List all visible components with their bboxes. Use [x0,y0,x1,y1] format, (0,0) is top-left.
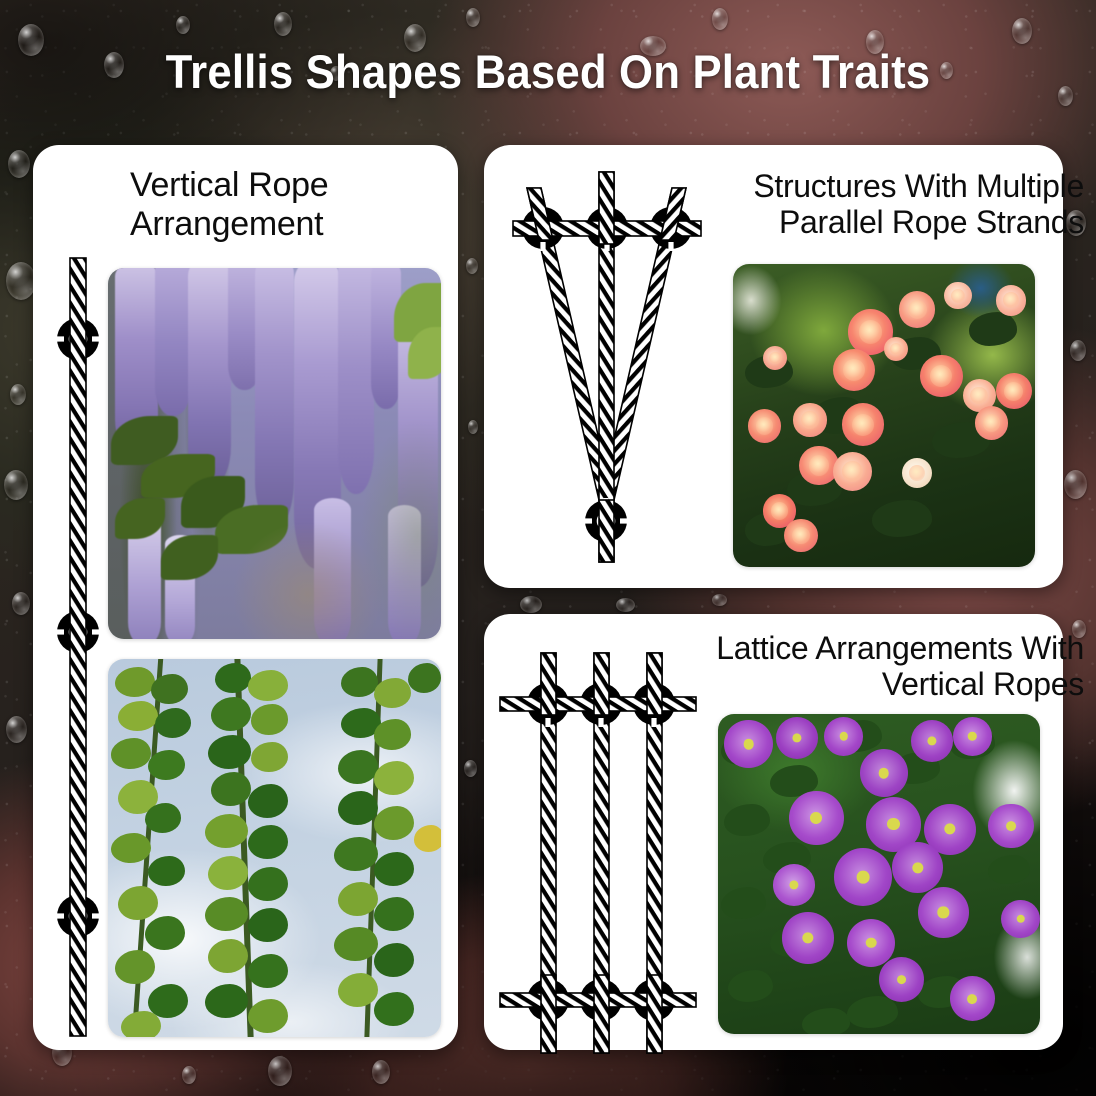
clematis-bloom [776,717,818,759]
card-heading-vertical: Vertical Rope Arrangement [130,166,430,244]
water-droplet [1058,86,1073,106]
clematis-bloom [782,912,834,963]
water-droplet [616,598,635,612]
rose-bloom [996,285,1026,315]
water-droplet [1064,470,1087,499]
water-droplet [274,12,292,36]
water-droplet [468,420,478,434]
clematis-bloom [879,957,924,1002]
water-droplet [6,262,36,300]
rose-bloom [793,403,826,436]
climbing-roses-photo-image [733,264,1035,567]
clematis-bloom [834,848,892,906]
water-droplet [464,760,477,777]
clematis-bloom [789,791,844,845]
water-droplet [466,258,478,274]
clematis-bloom [773,864,815,906]
rose-bloom [899,291,935,327]
water-droplet [712,8,728,30]
rose-bloom [833,452,872,491]
card-heading-lattice: Lattice Arrangements With Vertical Ropes [692,630,1084,703]
rose-bloom [884,337,908,361]
clematis-bloom [918,887,970,938]
card-heading-multi: Structures With Multiple Parallel Rope S… [714,168,1084,241]
water-droplet [4,470,28,500]
rose-bloom [975,406,1008,439]
water-droplet [6,716,27,743]
wisteria-photo [108,268,441,639]
water-droplet [372,1060,390,1084]
water-droplet [466,8,480,27]
water-droplet [176,16,190,34]
clematis-bloom [724,720,772,768]
water-droplet [12,592,30,615]
water-droplet [1012,18,1032,44]
water-droplet [8,150,30,178]
rose-bloom [842,403,884,445]
clematis-bloom [892,842,944,893]
clematis-bloom [988,804,1033,849]
climbing-roses-photo [733,264,1035,567]
water-droplet [520,596,542,613]
page-title: Trellis Shapes Based On Plant Traits [38,44,1057,99]
rose-bloom [944,282,971,309]
rose-bloom [996,373,1032,409]
rose-bloom [902,458,932,488]
rose-bloom [833,349,875,391]
purple-clematis-photo [718,714,1040,1034]
water-droplet [268,1056,292,1086]
clematis-bloom [911,720,953,762]
water-droplet [10,384,26,405]
water-droplet [712,594,727,606]
clematis-bloom [950,976,995,1021]
rose-bloom [784,519,817,552]
water-droplet [182,1066,196,1084]
clematis-bloom [953,717,992,755]
rose-bloom [748,409,781,442]
wisteria-photo-image [108,268,441,639]
clematis-bloom [1001,900,1040,938]
clematis-bloom [824,717,863,755]
clematis-bloom [847,919,895,967]
purple-clematis-photo-image [718,714,1040,1034]
clematis-bloom [860,749,908,797]
rose-bloom [920,355,962,397]
water-droplet [1070,340,1086,361]
climbing-vines-photo [108,659,441,1037]
climbing-vines-photo-image [108,659,441,1037]
